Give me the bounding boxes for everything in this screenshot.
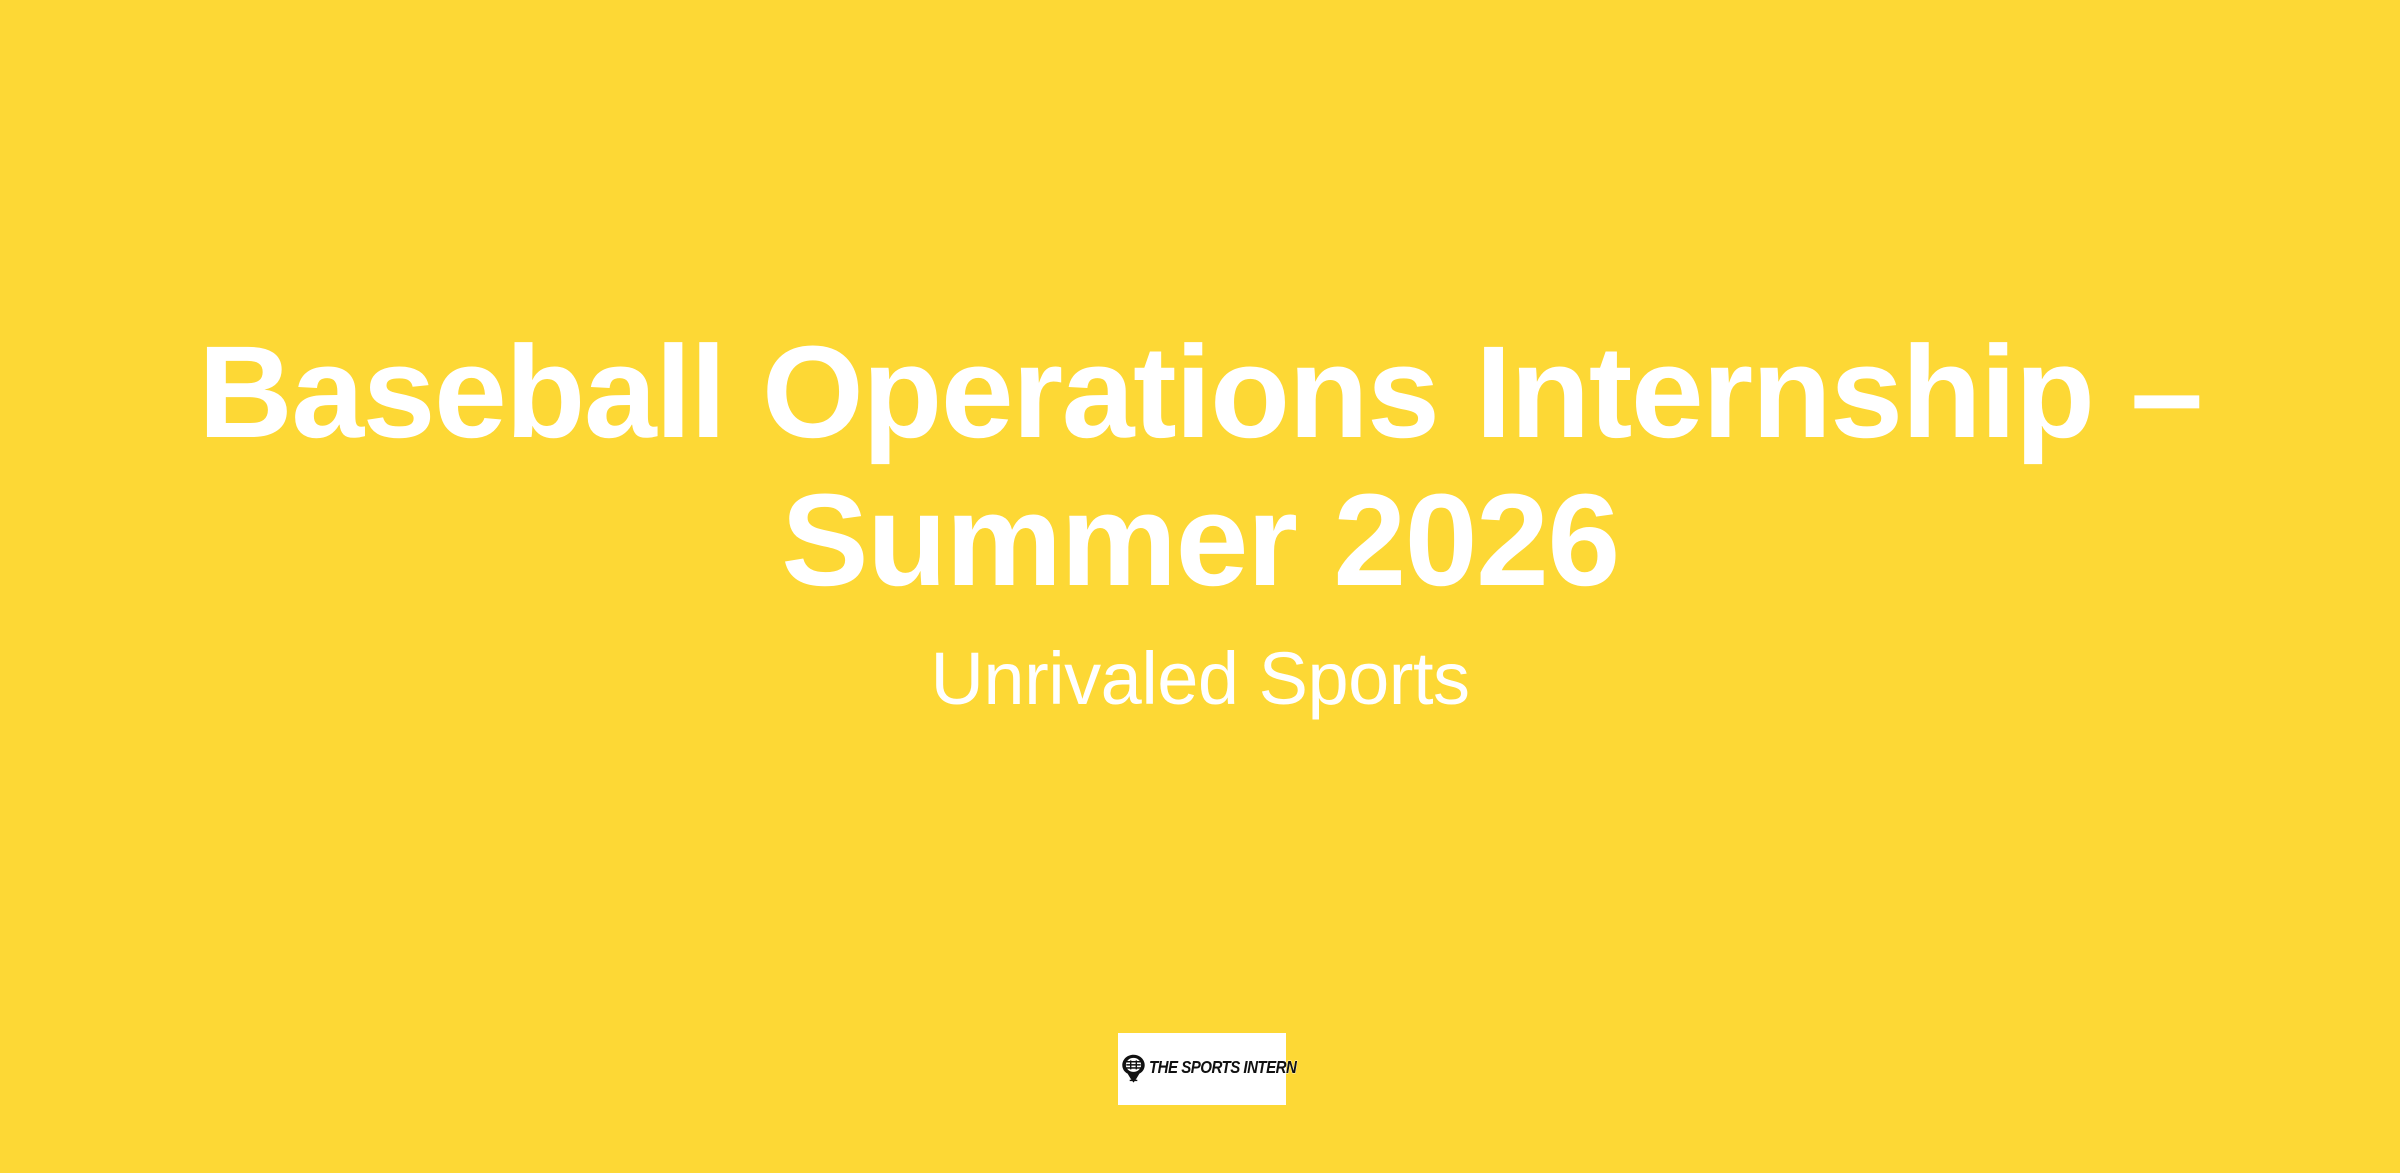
brand-logo-inner: THE SPORTS INTERN: [1121, 1054, 1320, 1083]
title-block: Baseball Operations Internship – Summer …: [0, 318, 2400, 721]
brand-wordmark: THE SPORTS INTERN: [1149, 1059, 1296, 1077]
striped-pin-badge-icon: [1121, 1054, 1146, 1083]
page-subtitle: Unrivaled Sports: [180, 614, 2220, 721]
title-slide: Baseball Operations Internship – Summer …: [0, 0, 2400, 1173]
page-title: Baseball Operations Internship – Summer …: [180, 318, 2220, 614]
brand-logo: THE SPORTS INTERN: [1118, 1033, 1286, 1105]
